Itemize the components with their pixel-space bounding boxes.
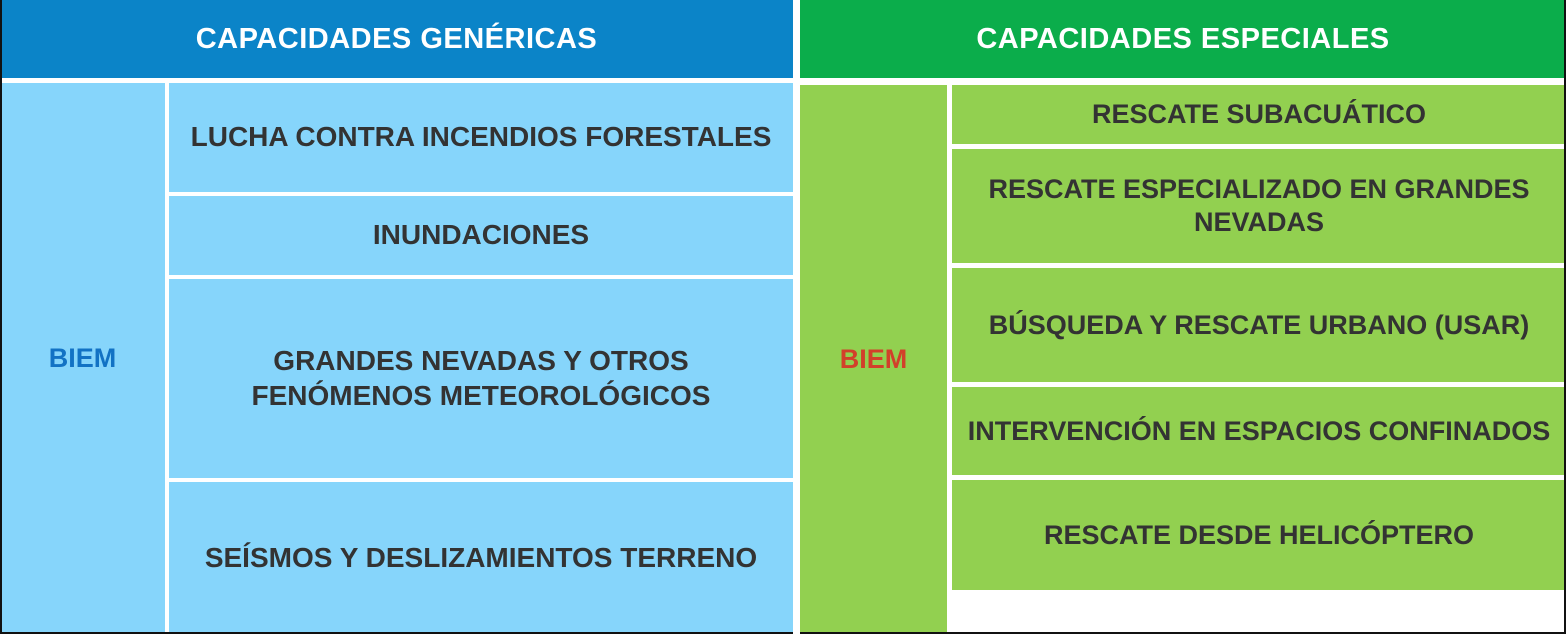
generic-capabilities-body: BIEM LUCHA CONTRA INCENDIOS FORESTALES I… (0, 78, 793, 634)
table-row: BÚSQUEDA Y RESCATE URBANO (USAR) (952, 268, 1566, 387)
special-capabilities-rows: RESCATE SUBACUÁTICO RESCATE ESPECIALIZAD… (952, 85, 1566, 634)
table-row: INTERVENCIÓN EN ESPACIOS CONFINADOS (952, 387, 1566, 480)
panel-divider (793, 0, 800, 634)
special-group-label-biem: BIEM (800, 85, 952, 634)
special-capabilities-panel: CAPACIDADES ESPECIALES BIEM RESCATE SUBA… (800, 0, 1566, 634)
table-row: RESCATE SUBACUÁTICO (952, 85, 1566, 149)
generic-capabilities-panel: CAPACIDADES GENÉRICAS BIEM LUCHA CONTRA … (0, 0, 793, 634)
special-capabilities-body: BIEM RESCATE SUBACUÁTICO RESCATE ESPECIA… (800, 78, 1566, 634)
table-row: RESCATE DESDE HELICÓPTERO (952, 480, 1566, 590)
generic-capabilities-rows: LUCHA CONTRA INCENDIOS FORESTALES INUNDA… (169, 83, 793, 634)
capabilities-table-slide: CAPACIDADES GENÉRICAS BIEM LUCHA CONTRA … (0, 0, 1566, 634)
table-row: INUNDACIONES (169, 196, 793, 279)
table-row: RESCATE ESPECIALIZADO EN GRANDES NEVADAS (952, 149, 1566, 268)
table-row: GRANDES NEVADAS Y OTROS FENÓMENOS METEOR… (169, 279, 793, 482)
table-row: LUCHA CONTRA INCENDIOS FORESTALES (169, 83, 793, 196)
table-row: SEÍSMOS Y DESLIZAMIENTOS TERRENO (169, 482, 793, 634)
special-capabilities-header: CAPACIDADES ESPECIALES (800, 0, 1566, 78)
generic-group-label-biem: BIEM (0, 83, 169, 634)
generic-capabilities-header: CAPACIDADES GENÉRICAS (0, 0, 793, 78)
